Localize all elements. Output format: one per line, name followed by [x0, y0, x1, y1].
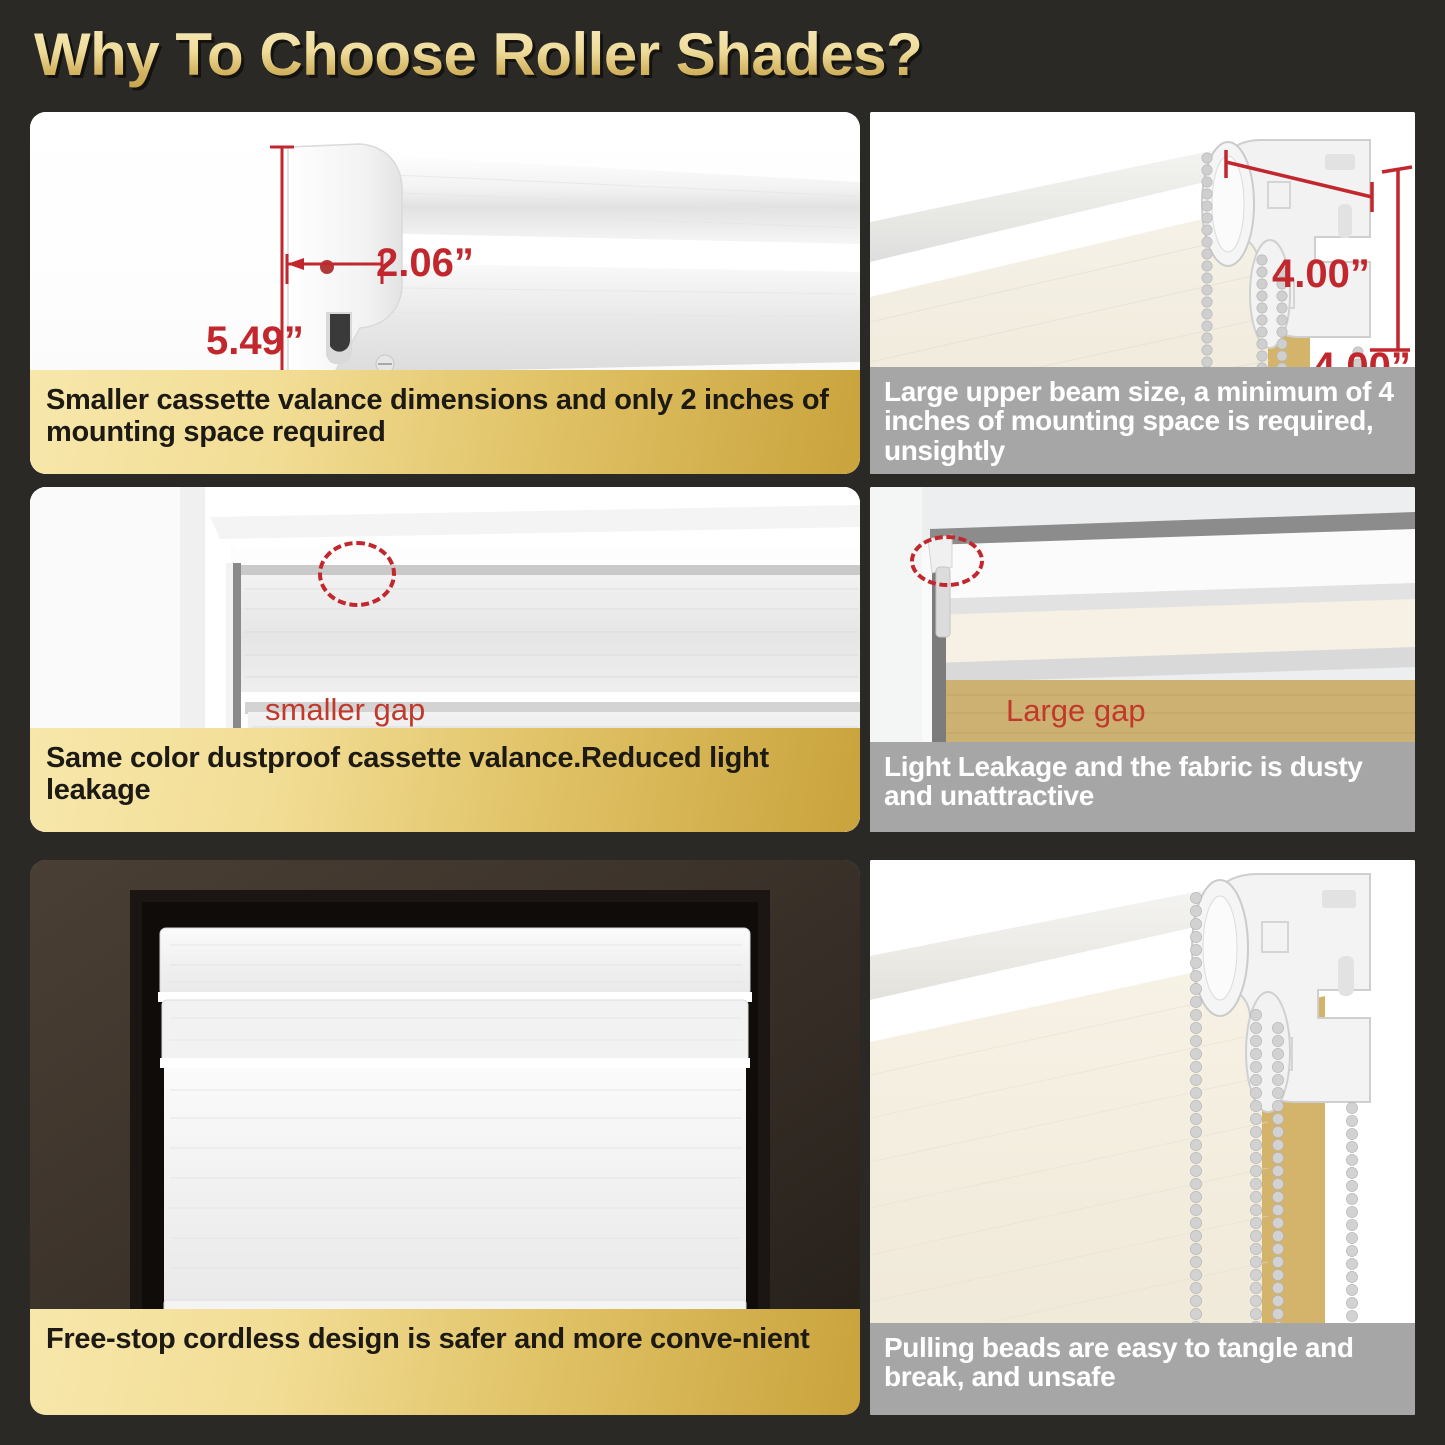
gap-label-large: Large gap — [1006, 693, 1146, 729]
gap-label-smaller: smaller gap — [265, 692, 425, 728]
gap-highlight-ellipse-right — [910, 535, 984, 587]
caption-middle-right: Light Leakage and the fabric is dusty an… — [870, 742, 1415, 832]
caption-top-right: Large upper beam size, a minimum of 4 in… — [870, 367, 1415, 474]
gap-highlight-ellipse — [318, 541, 396, 607]
dimension-label-width: 2.06” — [376, 241, 474, 286]
page-title: Why To Choose Roller Shades? — [34, 20, 922, 89]
caption-bottom-left: Free-stop cordless design is safer and m… — [30, 1309, 860, 1415]
dimension-label-width-top: 4.00” — [1272, 252, 1370, 297]
panel-bottom-left: Free-stop cordless design is safer and m… — [30, 860, 860, 1415]
caption-bottom-right: Pulling beads are easy to tangle and bre… — [870, 1323, 1415, 1415]
caption-middle-left: Same color dustproof cassette valance.Re… — [30, 728, 860, 832]
panel-top-left: 2.06” 5.49” Smaller cassette valance dim… — [30, 112, 860, 474]
panel-bottom-right: Pulling beads are easy to tangle and bre… — [870, 860, 1415, 1415]
panel-middle-left: smaller gap Same color dustproof cassett… — [30, 487, 860, 832]
header: Why To Choose Roller Shades? Why To Choo… — [0, 0, 1445, 108]
panel-top-right: 4.00” 4.00” Large upper beam size, a min… — [870, 112, 1415, 474]
panel-middle-right: Large gap Light Leakage and the fabric i… — [870, 487, 1415, 832]
dimension-label-height: 5.49” — [206, 319, 304, 364]
caption-top-left: Smaller cassette valance dimensions and … — [30, 370, 860, 474]
